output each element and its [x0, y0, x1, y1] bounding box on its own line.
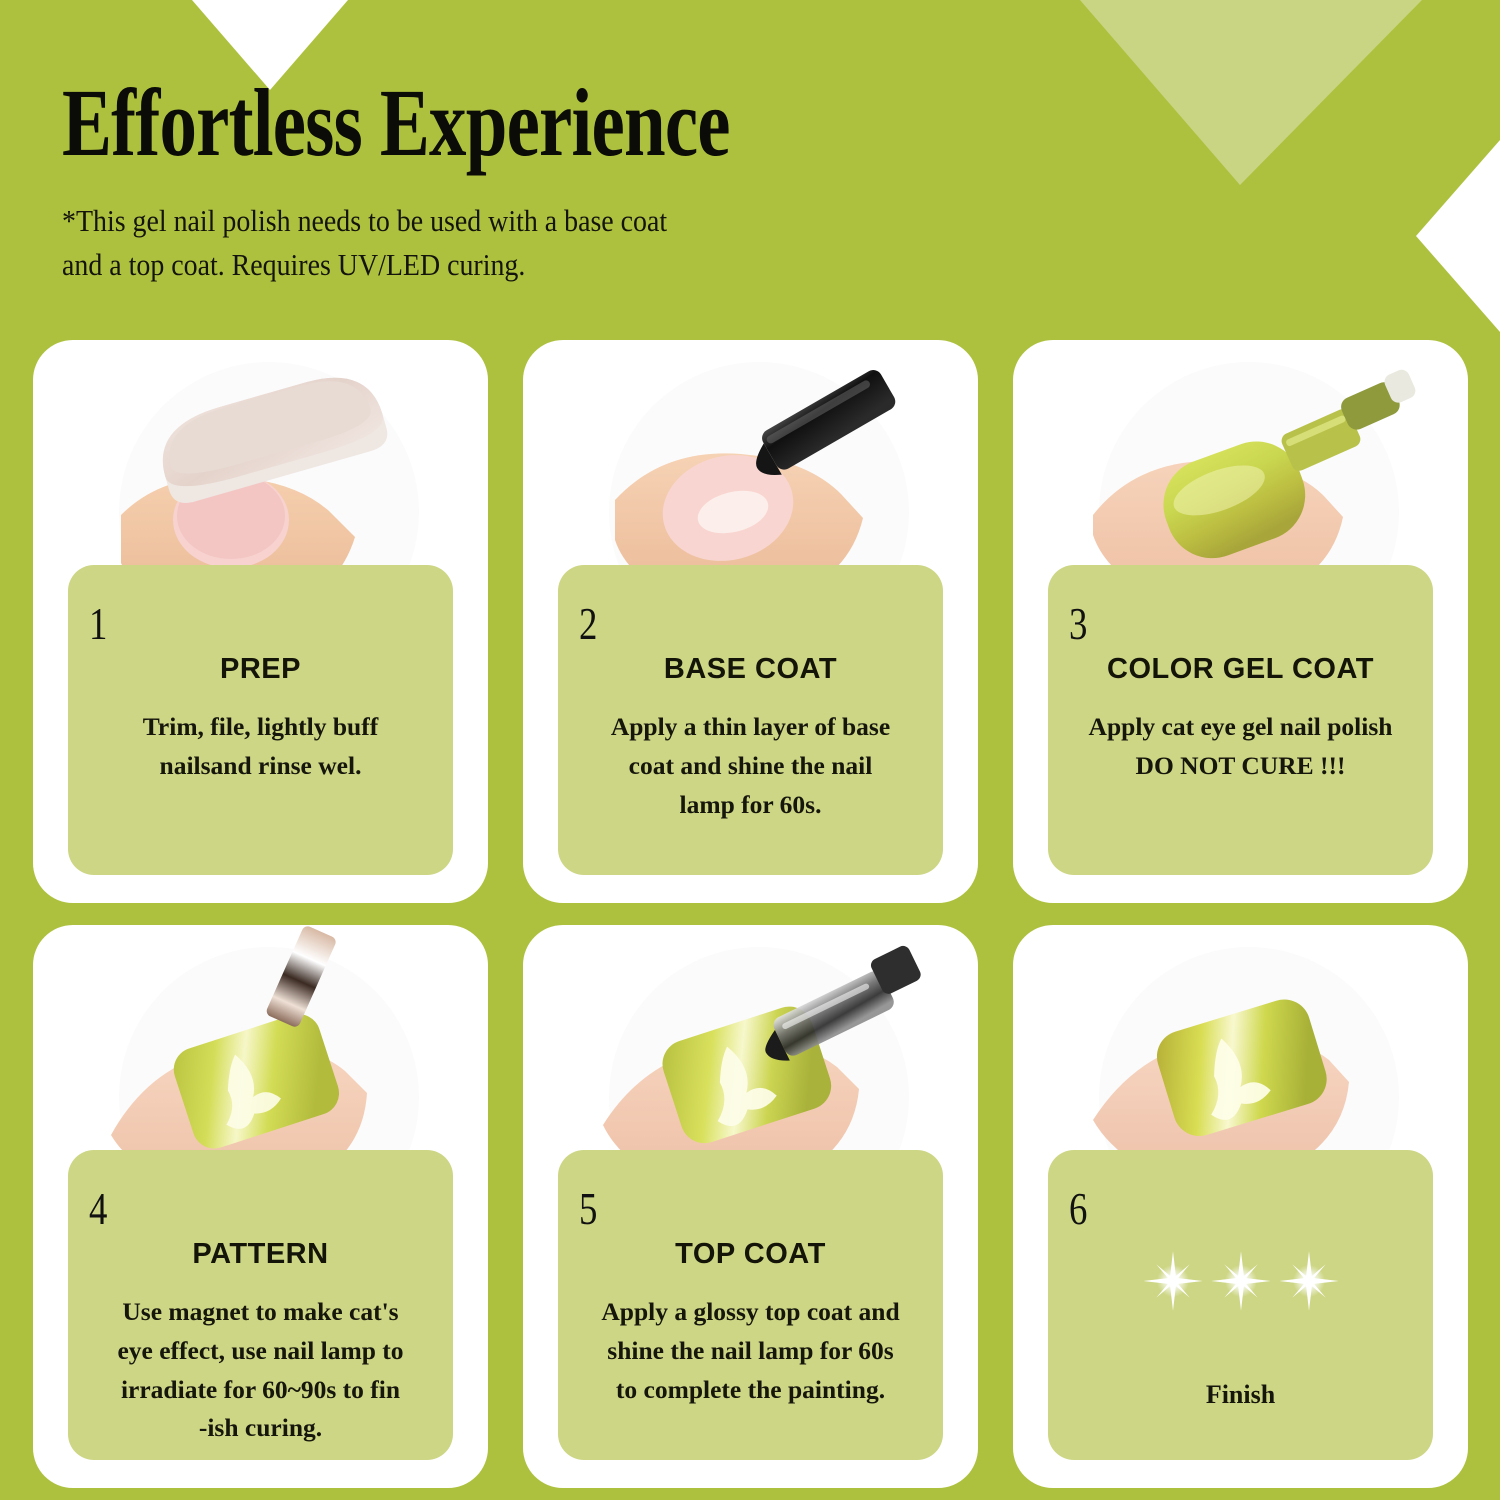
page-title: Effortless Experience	[62, 75, 920, 171]
step-6-panel: 6	[1048, 1150, 1433, 1460]
step-3-description: Apply cat eye gel nail polish DO NOT CUR…	[1072, 708, 1409, 786]
step-card-5[interactable]: 5 TOP COAT Apply a glossy top coat and s…	[523, 925, 978, 1488]
step-5-title: TOP COAT	[558, 1238, 943, 1271]
sparkle-group	[1048, 1250, 1433, 1312]
page-subtitle: *This gel nail polish needs to be used w…	[62, 199, 1052, 287]
step-card-3[interactable]: 3 COLOR GEL COAT Apply cat eye gel nail …	[1013, 340, 1468, 903]
step-6-number: 6	[1069, 1186, 1087, 1232]
step-4-number: 4	[89, 1186, 107, 1232]
step-4-title: PATTERN	[68, 1238, 453, 1271]
step-5-panel: 5 TOP COAT Apply a glossy top coat and s…	[558, 1150, 943, 1460]
step-2-description: Apply a thin layer of base coat and shin…	[582, 708, 919, 824]
step-3-title: COLOR GEL COAT	[1048, 653, 1433, 686]
sparkle-icon	[1142, 1250, 1204, 1312]
step-1-panel: 1 PREP Trim, file, lightly buff nailsand…	[68, 565, 453, 875]
white-arrow-right-edge	[1416, 140, 1500, 332]
sparkle-icon	[1210, 1250, 1272, 1312]
step-5-description: Apply a glossy top coat and shine the na…	[582, 1293, 919, 1409]
step-4-panel: 4 PATTERN Use magnet to make cat's eye e…	[68, 1150, 453, 1460]
step-1-number: 1	[89, 601, 107, 647]
step-card-2[interactable]: 2 BASE COAT Apply a thin layer of base c…	[523, 340, 978, 903]
step-card-4[interactable]: 4 PATTERN Use magnet to make cat's eye e…	[33, 925, 488, 1488]
step-5-number: 5	[579, 1186, 597, 1232]
step-2-panel: 2 BASE COAT Apply a thin layer of base c…	[558, 565, 943, 875]
step-3-number: 3	[1069, 601, 1087, 647]
step-card-1[interactable]: 1 PREP Trim, file, lightly buff nailsand…	[33, 340, 488, 903]
step-6-description: Finish	[1072, 1375, 1409, 1415]
step-4-description: Use magnet to make cat's eye effect, use…	[92, 1293, 429, 1448]
steps-grid: 1 PREP Trim, file, lightly buff nailsand…	[33, 340, 1467, 1472]
step-1-description: Trim, file, lightly buff nailsand rinse …	[92, 708, 429, 786]
page-header: Effortless Experience *This gel nail pol…	[62, 75, 1162, 287]
step-1-title: PREP	[68, 653, 453, 686]
step-2-title: BASE COAT	[558, 653, 943, 686]
step-card-6[interactable]: 6	[1013, 925, 1468, 1488]
sparkle-icon	[1278, 1250, 1340, 1312]
step-2-number: 2	[579, 601, 597, 647]
step-3-panel: 3 COLOR GEL COAT Apply cat eye gel nail …	[1048, 565, 1433, 875]
